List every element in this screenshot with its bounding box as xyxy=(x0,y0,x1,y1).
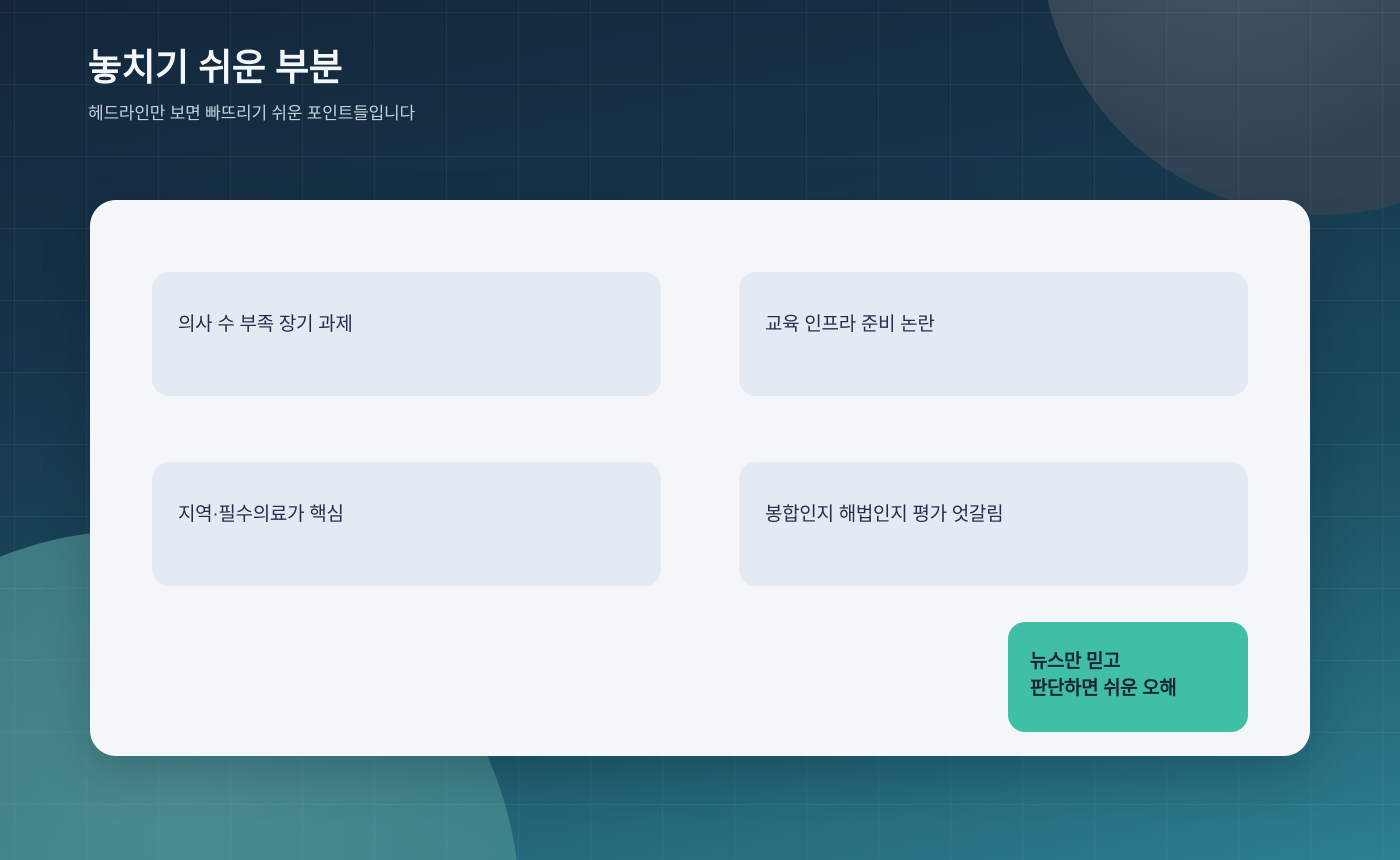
point-tile[interactable]: 교육 인프라 준비 논란 xyxy=(739,272,1248,396)
decorative-circle-top-right xyxy=(1040,0,1400,215)
point-tile[interactable]: 지역·필수의료가 핵심 xyxy=(152,462,661,586)
page-subtitle: 헤드라인만 보면 빠뜨리기 쉬운 포인트들입니다 xyxy=(88,102,908,126)
page-title: 놓치기 쉬운 부분 xyxy=(88,46,908,90)
point-tile[interactable]: 봉합인지 해법인지 평가 엇갈림 xyxy=(739,462,1248,586)
point-tile-grid: 의사 수 부족 장기 과제 교육 인프라 준비 논란 지역·필수의료가 핵심 봉… xyxy=(152,272,1248,586)
callout-badge-label: 뉴스만 믿고 판단하면 쉬운 오해 xyxy=(1030,649,1226,703)
content-card: 의사 수 부족 장기 과제 교육 인프라 준비 논란 지역·필수의료가 핵심 봉… xyxy=(90,200,1310,756)
point-tile-label: 봉합인지 해법인지 평가 엇갈림 xyxy=(765,502,1222,528)
point-tile-label: 지역·필수의료가 핵심 xyxy=(178,502,635,528)
point-tile-label: 의사 수 부족 장기 과제 xyxy=(178,312,635,338)
point-tile-label: 교육 인프라 준비 논란 xyxy=(765,312,1222,338)
callout-badge[interactable]: 뉴스만 믿고 판단하면 쉬운 오해 xyxy=(1008,622,1248,732)
point-tile[interactable]: 의사 수 부족 장기 과제 xyxy=(152,272,661,396)
slide-stage: 놓치기 쉬운 부분 헤드라인만 보면 빠뜨리기 쉬운 포인트들입니다 의사 수 … xyxy=(0,0,1400,860)
callout-row: 뉴스만 믿고 판단하면 쉬운 오해 xyxy=(152,622,1248,732)
slide-header: 놓치기 쉬운 부분 헤드라인만 보면 빠뜨리기 쉬운 포인트들입니다 xyxy=(88,46,908,126)
